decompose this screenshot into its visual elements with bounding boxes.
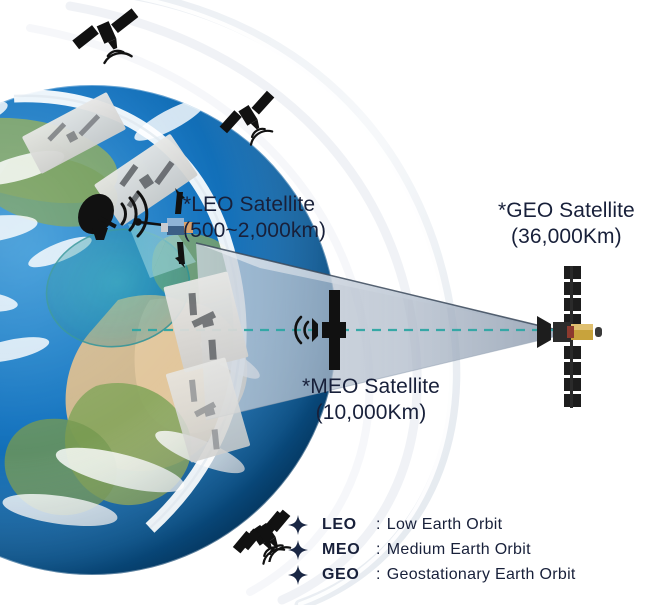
geo-satellite bbox=[537, 266, 602, 408]
geo-label-name: *GEO Satellite bbox=[498, 199, 635, 222]
legend: LEO : Low Earth Orbit MEO : Medium Earth… bbox=[288, 512, 576, 587]
meo-label-name: *MEO Satellite bbox=[302, 375, 440, 398]
legend-desc-meo: Medium Earth Orbit bbox=[387, 541, 531, 559]
geo-label-altitude: (36,000Km) bbox=[498, 224, 635, 250]
legend-desc-geo: Geostationary Earth Orbit bbox=[387, 566, 576, 584]
legend-abbr-geo: GEO bbox=[322, 566, 376, 584]
legend-abbr-meo: MEO bbox=[322, 541, 376, 559]
diamond-star-icon bbox=[288, 565, 308, 585]
geo-label: *GEO Satellite (36,000Km) bbox=[498, 198, 635, 250]
legend-satellite-icon bbox=[236, 506, 292, 562]
legend-sep-meo: : bbox=[376, 541, 381, 559]
diamond-star-icon bbox=[288, 540, 308, 560]
leo-label-name: *LEO Satellite bbox=[183, 193, 315, 216]
legend-sep-leo: : bbox=[376, 516, 381, 534]
legend-item-meo: MEO : Medium Earth Orbit bbox=[288, 537, 576, 562]
diagram-canvas: *LEO Satellite (500~2,000km) *GEO Satell… bbox=[0, 0, 658, 605]
leo-label: *LEO Satellite (500~2,000km) bbox=[183, 192, 326, 244]
legend-sep-geo: : bbox=[376, 566, 381, 584]
legend-item-leo: LEO : Low Earth Orbit bbox=[288, 512, 576, 537]
leo-label-altitude: (500~2,000km) bbox=[183, 218, 326, 244]
legend-desc-leo: Low Earth Orbit bbox=[387, 516, 503, 534]
meo-label-altitude: (10,000Km) bbox=[302, 400, 440, 426]
meo-label: *MEO Satellite (10,000Km) bbox=[302, 374, 440, 426]
legend-item-geo: GEO : Geostationary Earth Orbit bbox=[288, 562, 576, 587]
diamond-star-icon bbox=[288, 515, 308, 535]
legend-abbr-leo: LEO bbox=[322, 516, 376, 534]
